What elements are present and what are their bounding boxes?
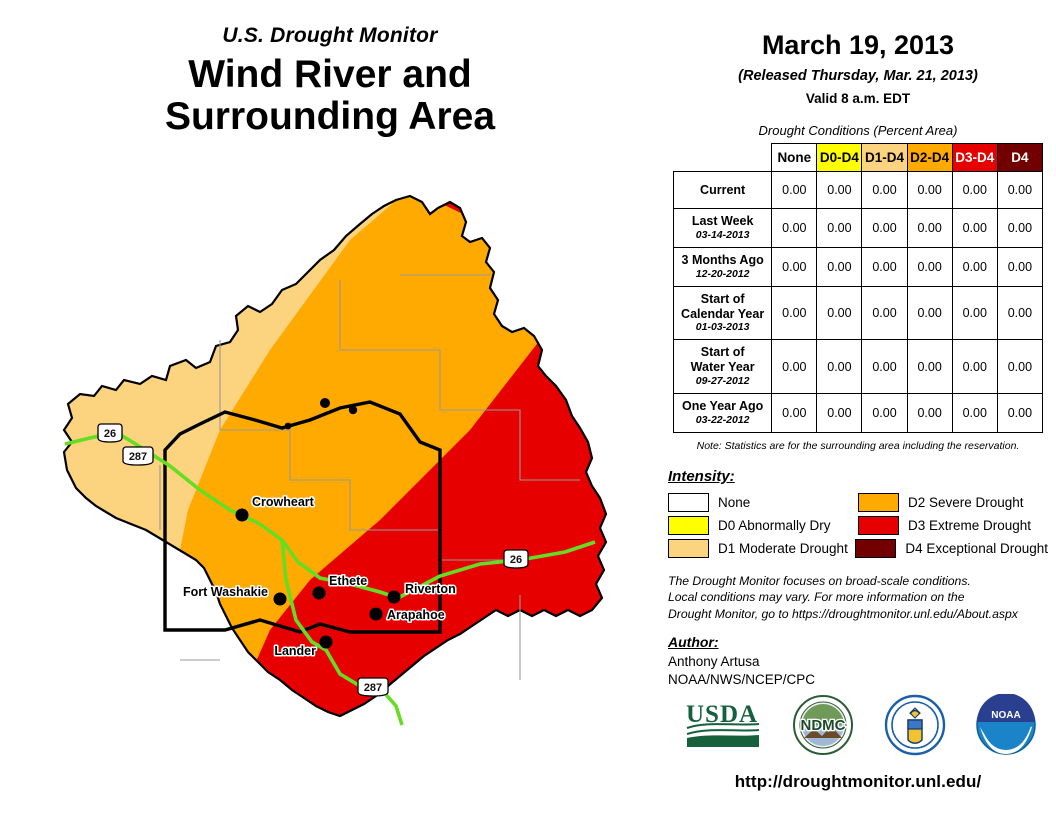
drought-conditions-table: NoneD0-D4D1-D4D2-D4D3-D4D4 Current0.000.… <box>673 143 1043 433</box>
legend-label: D4 Exceptional Drought <box>905 541 1048 556</box>
logo-row: USDA NDMC NOAA <box>668 690 1052 760</box>
table-cell-value: 0.00 <box>952 209 997 248</box>
table-cell-value: 0.00 <box>862 172 907 209</box>
title-line-2: Surrounding Area <box>0 96 660 138</box>
svg-text:NDMC: NDMC <box>801 717 846 734</box>
legend-label: None <box>718 495 750 510</box>
table-cell-value: 0.00 <box>997 394 1042 433</box>
valid-time: Valid 8 a.m. EDT <box>660 91 1056 106</box>
table-cell-value: 0.00 <box>772 247 817 286</box>
city-label: Arapahoe <box>387 608 445 622</box>
title-line-1: Wind River and <box>0 54 660 96</box>
shield-number: 287 <box>129 451 147 463</box>
table-row-label: Start ofCalendar Year01-03-2013 <box>674 286 772 340</box>
table-cell-value: 0.00 <box>952 172 997 209</box>
table-caption: Drought Conditions (Percent Area) <box>660 123 1056 138</box>
table-cell-value: 0.00 <box>907 340 952 394</box>
city-dot <box>320 636 333 649</box>
map-svg[interactable]: CrowheartFort WashakieEtheteRivertonArap… <box>20 180 660 740</box>
city-label: Riverton <box>405 582 456 596</box>
svg-text:NOAA: NOAA <box>992 710 1021 721</box>
legend-swatch <box>858 493 899 512</box>
city-dot <box>370 608 383 621</box>
legend-item[interactable]: D1 Moderate Drought <box>668 539 855 558</box>
legend-swatch <box>668 516 709 535</box>
table-cell-value: 0.00 <box>817 286 862 340</box>
table-cell-value: 0.00 <box>907 209 952 248</box>
table-cell-value: 0.00 <box>772 209 817 248</box>
intensity-legend: NoneD2 Severe DroughtD0 Abnormally DryD3… <box>668 491 1048 560</box>
table-col-header-none: None <box>772 144 817 172</box>
legend-item[interactable]: D2 Severe Drought <box>858 493 1048 512</box>
table-cell-value: 0.00 <box>862 247 907 286</box>
table-cell-value: 0.00 <box>817 247 862 286</box>
table-row: Start ofCalendar Year01-03-20130.000.000… <box>674 286 1043 340</box>
commerce-seal-logo <box>884 694 946 756</box>
table-row: Last Week03-14-20130.000.000.000.000.000… <box>674 209 1043 248</box>
highway-shield-26[interactable]: 26 <box>504 550 528 568</box>
table-header-row: NoneD0-D4D1-D4D2-D4D3-D4D4 <box>674 144 1043 172</box>
table-cell-value: 0.00 <box>952 286 997 340</box>
legend-swatch <box>858 516 899 535</box>
table-cell-value: 0.00 <box>952 247 997 286</box>
legend-swatch <box>855 539 896 558</box>
legend-row: D1 Moderate DroughtD4 Exceptional Drough… <box>668 537 1048 560</box>
table-row-label: Last Week03-14-2013 <box>674 209 772 248</box>
legend-label: D3 Extreme Drought <box>908 518 1031 533</box>
table-cell-value: 0.00 <box>862 286 907 340</box>
highway-shield-287[interactable]: 287 <box>358 678 388 696</box>
legend-item[interactable]: D0 Abnormally Dry <box>668 516 858 535</box>
disclaimer-text: The Drought Monitor focuses on broad-sca… <box>668 573 1056 622</box>
table-cell-value: 0.00 <box>997 172 1042 209</box>
table-row-label: Start ofWater Year09-27-2012 <box>674 340 772 394</box>
city-label: Fort Washakie <box>183 585 268 599</box>
highway-shield-287[interactable]: 287 <box>123 447 153 465</box>
legend-row: NoneD2 Severe Drought <box>668 491 1048 514</box>
table-row: 3 Months Ago12-20-20120.000.000.000.000.… <box>674 247 1043 286</box>
author-heading: Author: <box>668 634 1056 650</box>
drought-map[interactable]: CrowheartFort WashakieEtheteRivertonArap… <box>20 180 660 740</box>
legend-item[interactable]: D3 Extreme Drought <box>858 516 1048 535</box>
city-label: Lander <box>274 644 316 658</box>
table-cell-value: 0.00 <box>817 340 862 394</box>
author-affiliation: NOAA/NWS/NCEP/CPC <box>668 671 1056 689</box>
legend-item[interactable]: None <box>668 493 858 512</box>
table-cell-value: 0.00 <box>862 394 907 433</box>
table-col-header-d1-d4: D1-D4 <box>862 144 907 172</box>
city-dot <box>313 587 326 600</box>
shield-number: 287 <box>364 682 382 694</box>
kicker-text: U.S. Drought Monitor <box>0 24 660 48</box>
intensity-heading: Intensity: <box>668 468 1056 485</box>
table-cell-value: 0.00 <box>907 172 952 209</box>
map-date: March 19, 2013 <box>660 30 1056 61</box>
table-row-label: 3 Months Ago12-20-2012 <box>674 247 772 286</box>
table-cell-value: 0.00 <box>772 394 817 433</box>
table-cell-value: 0.00 <box>997 340 1042 394</box>
table-cell-value: 0.00 <box>907 286 952 340</box>
table-cell-value: 0.00 <box>997 286 1042 340</box>
table-cell-value: 0.00 <box>862 340 907 394</box>
table-row-label: Current <box>674 172 772 209</box>
table-col-header-d0-d4: D0-D4 <box>817 144 862 172</box>
table-cell-value: 0.00 <box>772 286 817 340</box>
city-dot <box>236 509 249 522</box>
city-dot <box>274 593 287 606</box>
disclaimer-line-1: The Drought Monitor focuses on broad-sca… <box>668 573 1056 589</box>
table-row: Start ofWater Year09-27-20120.000.000.00… <box>674 340 1043 394</box>
table-cell-value: 0.00 <box>817 394 862 433</box>
table-cell-value: 0.00 <box>772 172 817 209</box>
table-note: Note: Statistics are for the surrounding… <box>660 440 1056 452</box>
legend-row: D0 Abnormally DryD3 Extreme Drought <box>668 514 1048 537</box>
table-cell-value: 0.00 <box>862 209 907 248</box>
legend-swatch <box>668 539 709 558</box>
table-row: One Year Ago03-22-20120.000.000.000.000.… <box>674 394 1043 433</box>
city-label: Ethete <box>329 574 367 588</box>
page-title: Wind River and Surrounding Area <box>0 54 660 138</box>
table-cell-value: 0.00 <box>997 209 1042 248</box>
legend-label: D0 Abnormally Dry <box>718 518 831 533</box>
author-name: Anthony Artusa <box>668 653 1056 671</box>
legend-label: D1 Moderate Drought <box>718 541 848 556</box>
release-date: (Released Thursday, Mar. 21, 2013) <box>660 68 1056 84</box>
right-panel: March 19, 2013 (Released Thursday, Mar. … <box>660 0 1056 816</box>
table-cell-value: 0.00 <box>997 247 1042 286</box>
city-label: Crowheart <box>252 495 315 509</box>
table-cell-value: 0.00 <box>952 340 997 394</box>
highway-shield-26[interactable]: 26 <box>98 424 122 442</box>
disclaimer-line-2: Local conditions may vary. For more info… <box>668 589 1056 605</box>
table-body: Current0.000.000.000.000.000.00Last Week… <box>674 172 1043 433</box>
legend-label: D2 Severe Drought <box>908 495 1024 510</box>
table-col-header-d3-d4: D3-D4 <box>952 144 997 172</box>
noaa-logo: NOAA <box>975 694 1037 756</box>
table-cell-value: 0.00 <box>772 340 817 394</box>
table-cell-value: 0.00 <box>952 394 997 433</box>
usda-logo: USDA <box>683 697 763 753</box>
table-cell-value: 0.00 <box>817 172 862 209</box>
table-row-label: One Year Ago03-22-2012 <box>674 394 772 433</box>
table-cell-value: 0.00 <box>907 394 952 433</box>
disclaimer-line-3: Drought Monitor, go to https://droughtmo… <box>668 606 1056 622</box>
table-cell-value: 0.00 <box>817 209 862 248</box>
table-corner-cell <box>674 144 772 172</box>
ndmc-logo: NDMC <box>792 694 854 756</box>
table-row: Current0.000.000.000.000.000.00 <box>674 172 1043 209</box>
city-dot <box>388 591 401 604</box>
legend-item[interactable]: D4 Exceptional Drought <box>855 539 1048 558</box>
table-col-header-d2-d4: D2-D4 <box>907 144 952 172</box>
legend-swatch <box>668 493 709 512</box>
shield-number: 26 <box>510 554 522 566</box>
map-drought-regions <box>20 180 660 740</box>
shield-number: 26 <box>104 428 116 440</box>
title-block: U.S. Drought Monitor Wind River and Surr… <box>0 24 660 138</box>
table-col-header-d4: D4 <box>997 144 1042 172</box>
site-url[interactable]: http://droughtmonitor.unl.edu/ <box>660 772 1056 792</box>
table-cell-value: 0.00 <box>907 247 952 286</box>
